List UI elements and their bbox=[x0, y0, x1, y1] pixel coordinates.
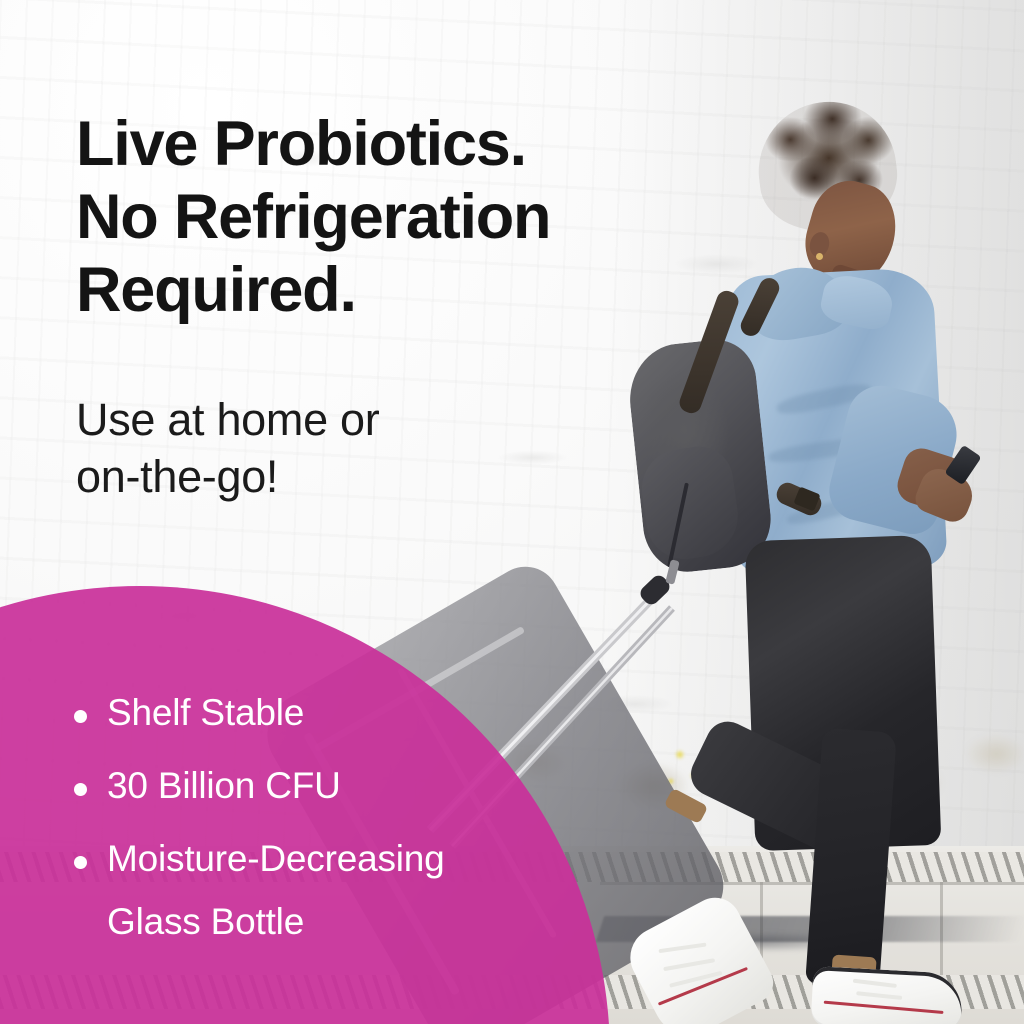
bullet-dot-icon bbox=[74, 710, 87, 723]
headline-line-2: No Refrigeration bbox=[76, 181, 716, 254]
feature-list: Shelf Stable 30 Billion CFU Moisture-Dec… bbox=[74, 694, 544, 976]
earring bbox=[816, 253, 823, 260]
bullet-dot-icon bbox=[74, 856, 87, 869]
feature-text: Moisture-Decreasing Glass Bottle bbox=[107, 840, 544, 940]
headline-line-1: Live Probiotics. bbox=[76, 108, 716, 181]
subheading-line-1: Use at home or bbox=[76, 392, 536, 449]
headline-line-3: Required. bbox=[76, 254, 716, 327]
feature-line: Moisture-Decreasing bbox=[107, 840, 544, 877]
list-item: 30 Billion CFU bbox=[74, 767, 544, 804]
ad-creative: Live Probiotics. No Refrigeration Requir… bbox=[0, 0, 1024, 1024]
list-item: Shelf Stable bbox=[74, 694, 544, 731]
subheading: Use at home or on-the-go! bbox=[76, 392, 536, 505]
page-title: Live Probiotics. No Refrigeration Requir… bbox=[76, 108, 716, 327]
feature-text: Shelf Stable bbox=[107, 694, 544, 731]
feature-line: 30 Billion CFU bbox=[107, 767, 544, 804]
bullet-dot-icon bbox=[74, 783, 87, 796]
list-item: Moisture-Decreasing Glass Bottle bbox=[74, 840, 544, 940]
feature-line: Shelf Stable bbox=[107, 694, 544, 731]
subheading-line-2: on-the-go! bbox=[76, 449, 536, 506]
feature-text: 30 Billion CFU bbox=[107, 767, 544, 804]
feature-line: Glass Bottle bbox=[107, 903, 544, 940]
